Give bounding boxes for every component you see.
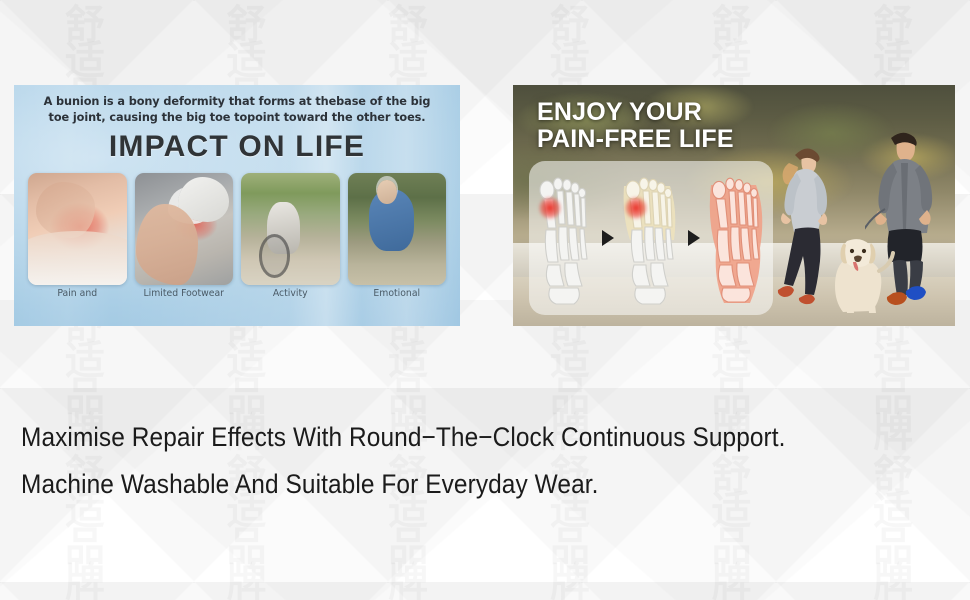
impact-caption-row: Pain and Limited Footwear Activity Emoti…: [28, 288, 446, 306]
impact-thumbnail-strip: [28, 173, 446, 285]
foot-diagram-before: [534, 170, 596, 306]
foot-progression-card: [529, 161, 773, 315]
pain-free-life-panel: ENJOY YOUR PAIN-FREE LIFE: [513, 85, 955, 326]
play-triangle-icon: [602, 230, 614, 246]
product-caption-block: Maximise Repair Effects With Round−The−C…: [21, 414, 951, 508]
thumb-caption-activity: Activity: [241, 288, 340, 306]
play-triangle-icon: [688, 230, 700, 246]
caption-line-1: Maximise Repair Effects With Round−The−C…: [21, 414, 863, 461]
foot-diagram-after: [706, 170, 768, 306]
thumb-limited-footwear: [135, 173, 234, 285]
thumb-pain: [28, 173, 127, 285]
impact-on-life-title: IMPACT ON LIFE: [14, 130, 460, 164]
foot-diagram-during: [620, 170, 682, 306]
thumb-caption-emotional: Emotional: [348, 288, 447, 306]
bunion-description-text: A bunion is a bony deformity that forms …: [36, 94, 438, 126]
golden-retriever-dog: [823, 235, 895, 313]
progression-arrow-1: [598, 230, 618, 246]
thumb-caption-limited-footwear: Limited Footwear: [135, 288, 234, 306]
foot-bones-icon: [620, 170, 682, 306]
pain-marker-icon: [538, 196, 562, 220]
pain-free-life-heading: ENJOY YOUR PAIN-FREE LIFE: [537, 99, 734, 153]
thumb-caption-pain: Pain and: [28, 288, 127, 306]
caption-line-2: Machine Washable And Suitable For Everyd…: [21, 461, 863, 508]
thumb-activity: [241, 173, 340, 285]
foot-bones-icon: [534, 170, 596, 306]
progression-arrow-2: [684, 230, 704, 246]
foot-bones-icon: [706, 170, 768, 306]
banner-image-row: A bunion is a bony deformity that forms …: [0, 0, 970, 340]
impact-on-life-panel: A bunion is a bony deformity that forms …: [14, 85, 460, 326]
pain-marker-icon: [624, 196, 648, 220]
thumb-emotional: [348, 173, 447, 285]
